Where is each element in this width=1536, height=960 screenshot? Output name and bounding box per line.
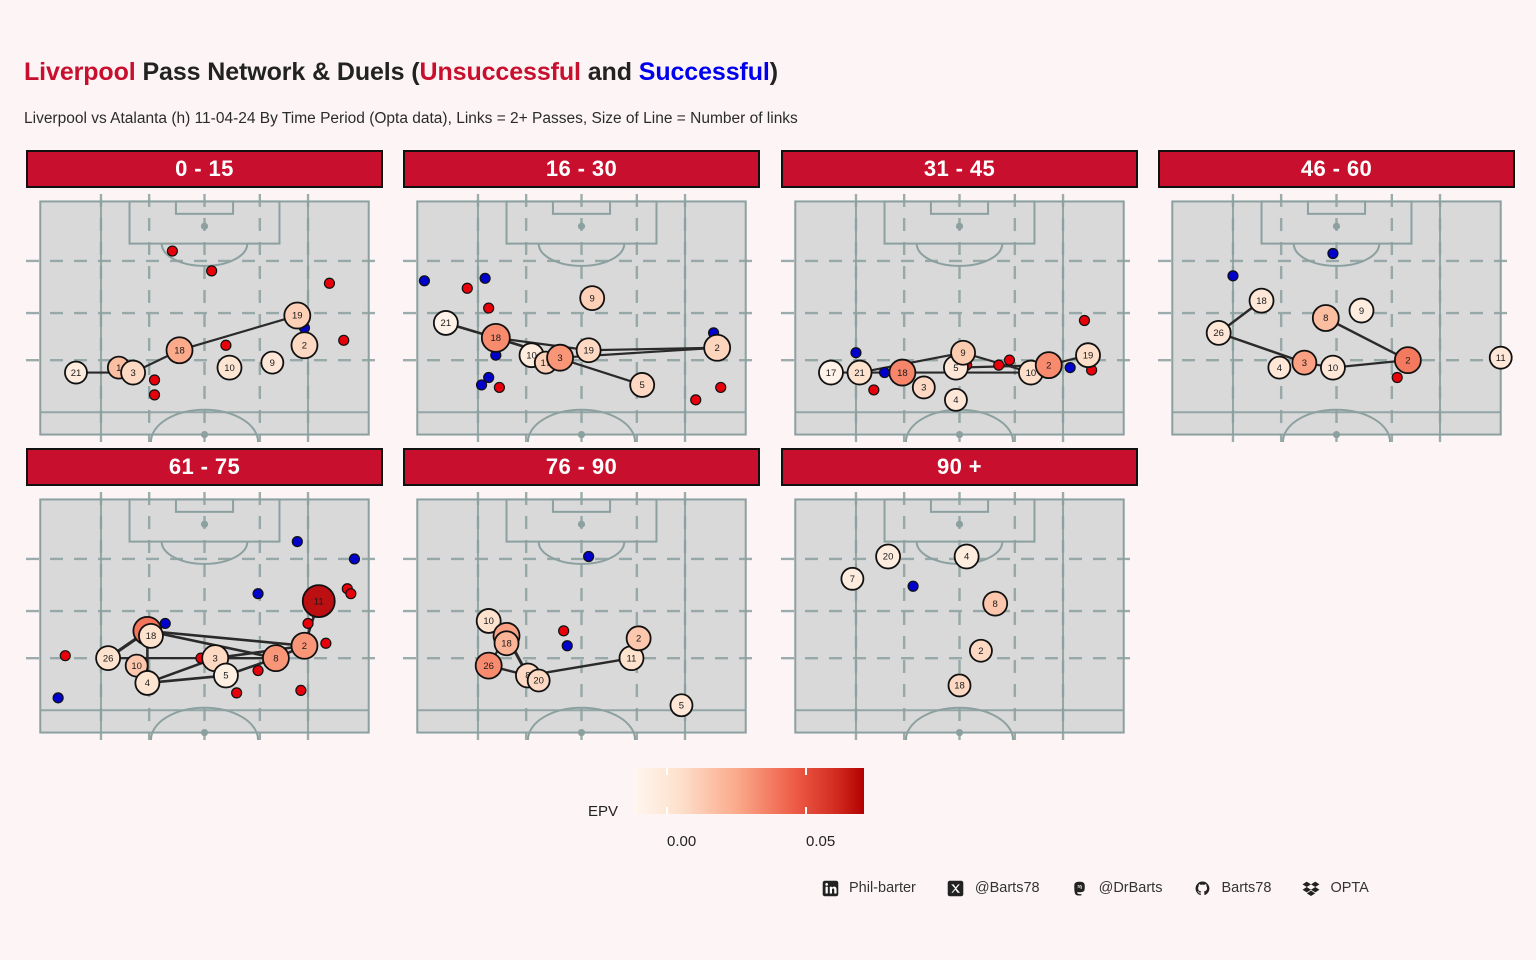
player-number: 18 xyxy=(174,345,185,356)
player-number: 19 xyxy=(292,311,303,322)
player-node[interactable]: 18 xyxy=(949,674,971,696)
duel-successful-marker xyxy=(851,348,861,358)
player-node[interactable]: 11 xyxy=(303,585,335,617)
player-node[interactable]: 20 xyxy=(528,669,550,691)
player-number: 21 xyxy=(441,318,452,329)
player-number: 26 xyxy=(103,653,114,664)
player-number: 11 xyxy=(627,653,637,664)
player-node[interactable]: 7 xyxy=(841,568,863,590)
player-number: 21 xyxy=(854,368,865,379)
pitch-plot: 211318192109 xyxy=(26,194,383,442)
player-number: 2 xyxy=(978,646,983,657)
player-number: 4 xyxy=(953,395,958,406)
epv-tick-low: 0.00 xyxy=(667,833,696,850)
panel-header: 0 - 15 xyxy=(26,150,383,188)
panel-title: 0 - 15 xyxy=(175,156,234,182)
pitch-panel-46-60: 46 - 601826431089211 xyxy=(1158,150,1515,442)
player-number: 9 xyxy=(960,348,965,359)
player-number: 18 xyxy=(954,681,965,692)
player-number: 8 xyxy=(993,599,998,610)
player-number: 18 xyxy=(501,638,512,649)
epv-colorbar xyxy=(634,768,864,814)
player-node[interactable]: 2 xyxy=(1036,352,1062,378)
panel-title: 16 - 30 xyxy=(546,156,617,182)
duel-successful-marker xyxy=(480,273,490,283)
pitch-plot: 20478218 xyxy=(781,492,1138,740)
pitch-plot: 21181017319295 xyxy=(403,194,760,442)
player-node[interactable]: 21 xyxy=(848,361,872,385)
duel-successful-marker xyxy=(419,276,429,286)
player-node[interactable]: 8 xyxy=(1313,305,1339,331)
pitch-plot: 10718268201125 xyxy=(403,492,760,740)
player-number: 5 xyxy=(223,671,228,682)
player-node[interactable]: 4 xyxy=(135,671,159,695)
player-node[interactable]: 4 xyxy=(945,389,967,411)
duel-unsuccessful-marker xyxy=(303,618,313,628)
player-number: 3 xyxy=(921,383,926,394)
player-number: 26 xyxy=(1213,328,1224,339)
player-node[interactable]: 18 xyxy=(139,624,163,648)
player-number: 3 xyxy=(213,653,218,664)
duel-unsuccessful-marker xyxy=(494,382,504,392)
player-number: 2 xyxy=(302,340,307,351)
panel-title: 31 - 45 xyxy=(924,156,995,182)
player-node[interactable]: 9 xyxy=(580,286,604,310)
duel-successful-marker xyxy=(53,693,63,703)
player-number: 7 xyxy=(850,574,855,585)
mastodon-icon xyxy=(1070,878,1090,898)
footer-handle: @Barts78 xyxy=(975,880,1040,896)
linkedin-icon xyxy=(820,878,840,898)
page-subtitle: Liverpool vs Atalanta (h) 11-04-24 By Ti… xyxy=(24,110,798,128)
player-number: 8 xyxy=(1323,313,1328,324)
duel-unsuccessful-marker xyxy=(232,688,242,698)
player-number: 18 xyxy=(491,333,502,344)
player-node[interactable]: 26 xyxy=(1207,321,1231,345)
x-twitter-icon xyxy=(946,878,966,898)
duel-unsuccessful-marker xyxy=(150,375,160,385)
player-node[interactable]: 2 xyxy=(291,332,317,358)
player-node[interactable]: 9 xyxy=(951,341,975,365)
player-number: 3 xyxy=(1302,358,1307,369)
player-number: 2 xyxy=(636,634,641,645)
player-number: 9 xyxy=(270,358,275,369)
pitch-plot: 172118345910219 xyxy=(781,194,1138,442)
duel-successful-marker xyxy=(253,589,263,599)
player-node[interactable]: 21 xyxy=(434,311,458,335)
panel-header: 46 - 60 xyxy=(1158,150,1515,188)
duel-unsuccessful-marker xyxy=(1392,373,1402,383)
player-number: 26 xyxy=(483,661,494,672)
duel-unsuccessful-marker xyxy=(207,266,217,276)
player-node[interactable]: 21 xyxy=(65,362,87,384)
duel-unsuccessful-marker xyxy=(716,382,726,392)
player-number: 5 xyxy=(640,380,645,391)
duel-unsuccessful-marker xyxy=(346,589,356,599)
panel-header: 76 - 90 xyxy=(403,448,760,486)
duel-unsuccessful-marker xyxy=(296,685,306,695)
player-node[interactable]: 3 xyxy=(121,361,145,385)
pitch-plot: 1826431089211 xyxy=(1158,194,1515,442)
player-node[interactable]: 5 xyxy=(214,664,238,688)
footer-credits: Phil-barter@Barts78@DrBartsBarts78OPTA xyxy=(820,878,1399,898)
player-node[interactable]: 18 xyxy=(1250,289,1274,313)
player-number: 20 xyxy=(883,552,894,563)
player-number: 9 xyxy=(1359,306,1364,317)
duel-unsuccessful-marker xyxy=(324,278,334,288)
player-node[interactable]: 11 xyxy=(1490,347,1512,369)
footer-handle: @DrBarts xyxy=(1099,880,1163,896)
player-node[interactable]: 2 xyxy=(704,335,730,361)
epv-tick-high: 0.05 xyxy=(806,833,835,850)
player-number: 10 xyxy=(131,661,142,672)
page-title: Liverpool Pass Network & Duels (Unsucces… xyxy=(24,58,778,87)
epv-legend-label: EPV xyxy=(588,803,632,820)
panel-header: 61 - 75 xyxy=(26,448,383,486)
player-number: 10 xyxy=(483,616,494,627)
player-node[interactable]: 9 xyxy=(261,352,283,374)
duel-unsuccessful-marker xyxy=(150,390,160,400)
player-node[interactable]: 18 xyxy=(889,360,915,386)
pitch-panel-76-90: 76 - 9010718268201125 xyxy=(403,448,760,740)
duel-successful-marker xyxy=(292,537,302,547)
panel-title: 76 - 90 xyxy=(546,454,617,480)
player-number: 3 xyxy=(130,368,135,379)
github-icon xyxy=(1192,878,1212,898)
player-node[interactable]: 3 xyxy=(547,345,573,371)
footer-item[interactable]: @DrBarts xyxy=(1070,878,1193,898)
player-node[interactable]: 17 xyxy=(819,361,843,385)
player-node[interactable]: 3 xyxy=(1292,351,1316,375)
title-mid2: and xyxy=(581,58,639,86)
player-number: 8 xyxy=(273,653,278,664)
duel-unsuccessful-marker xyxy=(691,395,701,405)
player-node[interactable]: 8 xyxy=(983,592,1007,616)
panel-title: 46 - 60 xyxy=(1301,156,1372,182)
duel-unsuccessful-marker xyxy=(321,638,331,648)
footer-handle: OPTA xyxy=(1330,880,1368,896)
footer-item[interactable]: @Barts78 xyxy=(946,878,1070,898)
duel-unsuccessful-marker xyxy=(559,626,569,636)
footer-item[interactable]: Phil-barter xyxy=(820,878,946,898)
player-node[interactable]: 19 xyxy=(1076,343,1100,367)
player-number: 17 xyxy=(826,368,837,379)
panel-header: 31 - 45 xyxy=(781,150,1138,188)
duel-successful-marker xyxy=(349,554,359,564)
duel-unsuccessful-marker xyxy=(484,303,494,313)
player-node[interactable]: 26 xyxy=(476,653,502,679)
duel-unsuccessful-marker xyxy=(339,335,349,345)
player-number: 2 xyxy=(715,343,720,354)
player-number: 2 xyxy=(302,641,307,652)
pitch-plot: 71826104358211 xyxy=(26,492,383,740)
player-number: 21 xyxy=(71,368,82,379)
player-node[interactable]: 10 xyxy=(1321,356,1345,380)
player-number: 10 xyxy=(1026,368,1037,379)
title-team: Liverpool xyxy=(24,58,136,86)
footer-handle: Phil-barter xyxy=(849,880,916,896)
player-node[interactable]: 5 xyxy=(630,373,654,397)
player-node[interactable]: 19 xyxy=(284,303,310,329)
duel-successful-marker xyxy=(908,581,918,591)
player-number: 9 xyxy=(590,293,595,304)
player-node[interactable]: 2 xyxy=(627,626,651,650)
player-number: 18 xyxy=(897,368,908,379)
player-number: 5 xyxy=(679,700,684,711)
footer-item[interactable]: OPTA xyxy=(1301,878,1398,898)
pitch-panel-0-15: 0 - 15211318192109 xyxy=(26,150,383,442)
duel-unsuccessful-marker xyxy=(1079,315,1089,325)
title-mid1: Pass Network & Duels ( xyxy=(136,58,420,86)
player-number: 4 xyxy=(1277,363,1282,374)
player-node[interactable]: 2 xyxy=(1395,347,1421,373)
duel-successful-marker xyxy=(880,368,890,378)
player-node[interactable]: 3 xyxy=(913,376,935,398)
title-end: ) xyxy=(770,58,778,86)
player-node[interactable]: 4 xyxy=(955,544,979,568)
panel-header: 16 - 30 xyxy=(403,150,760,188)
player-node[interactable]: 18 xyxy=(495,631,519,655)
player-node[interactable]: 26 xyxy=(96,646,120,670)
player-node[interactable]: 18 xyxy=(167,337,193,363)
player-number: 4 xyxy=(145,678,150,689)
player-number: 10 xyxy=(1328,363,1339,374)
pitch-panel-16-30: 16 - 3021181017319295 xyxy=(403,150,760,442)
player-node[interactable]: 2 xyxy=(970,640,992,662)
pitch-panel-31-45: 31 - 45172118345910219 xyxy=(781,150,1138,442)
panel-header: 90 + xyxy=(781,448,1138,486)
player-number: 10 xyxy=(224,363,235,374)
panel-title: 90 + xyxy=(937,454,982,480)
player-node[interactable]: 10 xyxy=(217,356,241,380)
duel-unsuccessful-marker xyxy=(253,666,263,676)
duel-unsuccessful-marker xyxy=(221,340,231,350)
footer-handle: Barts78 xyxy=(1221,880,1271,896)
player-number: 18 xyxy=(1256,296,1267,307)
duel-unsuccessful-marker xyxy=(60,651,70,661)
duel-successful-marker xyxy=(1328,249,1338,259)
footer-item[interactable]: Barts78 xyxy=(1192,878,1301,898)
player-number: 2 xyxy=(1405,355,1410,366)
player-node[interactable]: 18 xyxy=(482,324,510,352)
player-node[interactable]: 20 xyxy=(876,544,900,568)
title-unsuccessful: Unsuccessful xyxy=(420,58,581,86)
duel-unsuccessful-marker xyxy=(167,246,177,256)
duel-unsuccessful-marker xyxy=(1004,355,1014,365)
duel-successful-marker xyxy=(562,641,572,651)
duel-successful-marker xyxy=(584,551,594,561)
player-number: 11 xyxy=(1496,353,1506,364)
player-number: 18 xyxy=(146,631,157,642)
pitch-panel-61-75: 61 - 7571826104358211 xyxy=(26,448,383,740)
player-number: 3 xyxy=(557,353,562,364)
player-node[interactable]: 4 xyxy=(1268,357,1290,379)
title-successful: Successful xyxy=(639,58,770,86)
player-node[interactable]: 5 xyxy=(670,694,692,716)
duel-unsuccessful-marker xyxy=(462,283,472,293)
player-node[interactable]: 2 xyxy=(291,633,317,659)
player-node[interactable]: 8 xyxy=(263,645,289,671)
duel-unsuccessful-marker xyxy=(994,360,1004,370)
player-node[interactable]: 9 xyxy=(1349,299,1373,323)
player-number: 2 xyxy=(1046,360,1051,371)
player-number: 4 xyxy=(964,552,969,563)
dropbox-icon xyxy=(1301,878,1321,898)
duel-successful-marker xyxy=(477,380,487,390)
pitch-panel-90plus: 90 +20478218 xyxy=(781,448,1138,740)
player-number: 20 xyxy=(533,676,544,687)
duel-unsuccessful-marker xyxy=(869,385,879,395)
player-number: 11 xyxy=(314,596,324,607)
player-number: 19 xyxy=(583,345,594,356)
duel-successful-marker xyxy=(1065,363,1075,373)
player-number: 19 xyxy=(1083,350,1094,361)
panel-title: 61 - 75 xyxy=(169,454,240,480)
player-node[interactable]: 19 xyxy=(577,338,601,362)
duel-successful-marker xyxy=(1228,271,1238,281)
